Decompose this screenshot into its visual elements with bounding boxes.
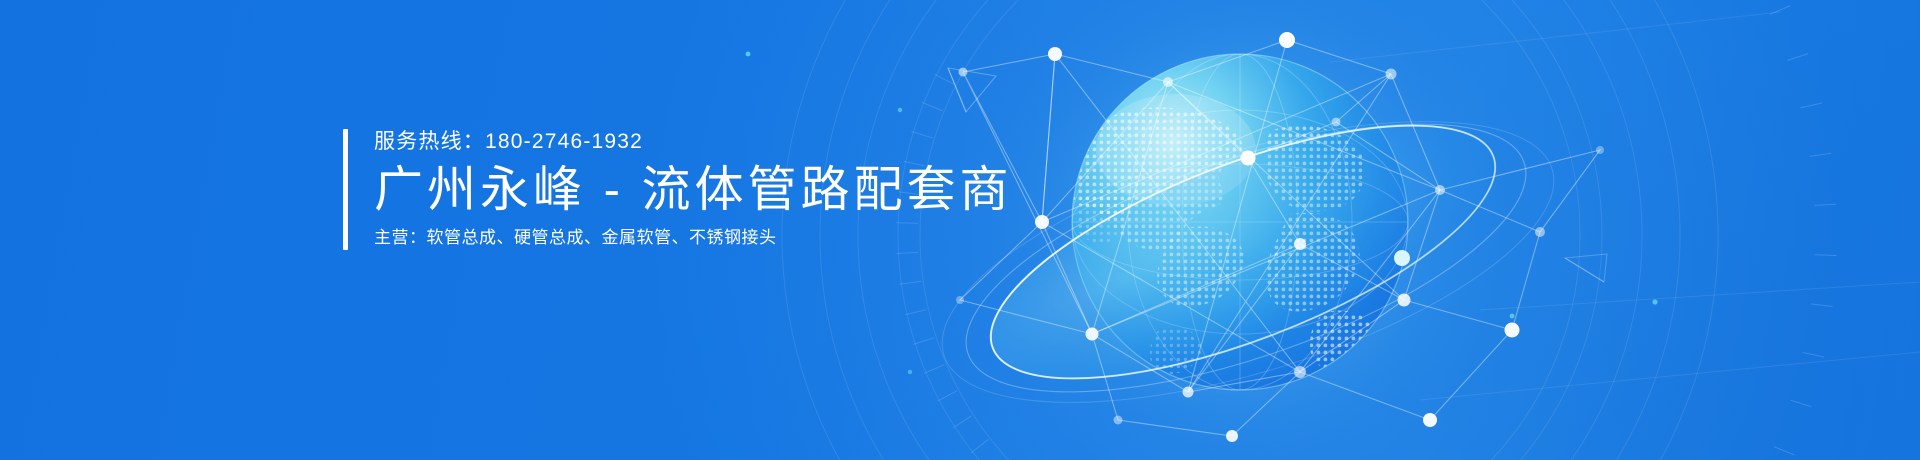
text-lines: 服务热线：180-2746-1932 广州永峰 - 流体管路配套商 主营：软管总… [374,129,1013,250]
triangle-accent-right [1565,254,1607,282]
promo-banner: 服务热线：180-2746-1932 广州永峰 - 流体管路配套商 主营：软管总… [0,0,1920,460]
page-title: 广州永峰 - 流体管路配套商 [374,160,1013,220]
triangle-accent-left [948,68,996,112]
service-hotline: 服务热线：180-2746-1932 [374,129,1013,155]
network-nodes [956,32,1604,442]
continent-dots [1071,107,1375,370]
accent-bar [343,129,348,250]
network-links [960,40,1600,436]
product-subtitle: 主营：软管总成、硬管总成、金属软管、不锈钢接头 [374,226,1013,250]
orbital-ring [912,64,1585,460]
headline-text-block: 服务热线：180-2746-1932 广州永峰 - 流体管路配套商 主营：软管总… [343,129,1013,250]
